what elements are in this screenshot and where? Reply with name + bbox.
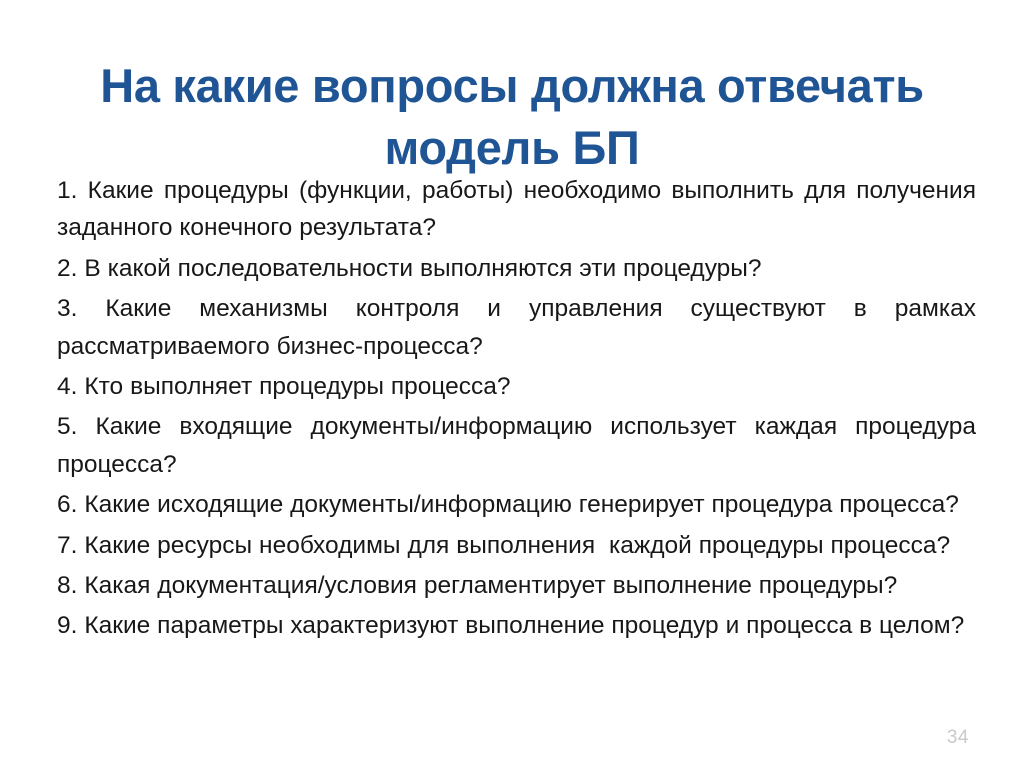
page-number: 34 <box>947 727 969 749</box>
list-item: 3. Какие механизмы контроля и управления… <box>57 290 976 365</box>
page-title: На какие вопросы должна отвечать модель … <box>60 55 964 179</box>
list-item: 7. Какие ресурсы необходимы для выполнен… <box>57 527 976 564</box>
list-item: 1. Какие процедуры (функции, работы) нео… <box>57 172 976 247</box>
list-item: 2. В какой последовательности выполняютс… <box>57 250 976 287</box>
list-item: 9. Какие параметры характеризуют выполне… <box>57 607 976 644</box>
list-item: 6. Какие исходящие документы/информацию … <box>57 486 976 523</box>
list-item: 8. Какая документация/условия регламенти… <box>57 567 976 604</box>
slide-canvas: На какие вопросы должна отвечать модель … <box>0 0 1024 767</box>
list-item: 5. Какие входящие документы/информацию и… <box>57 408 976 483</box>
list-item: 4. Кто выполняет процедуры процесса? <box>57 368 976 405</box>
question-list: 1. Какие процедуры (функции, работы) нео… <box>57 172 976 648</box>
